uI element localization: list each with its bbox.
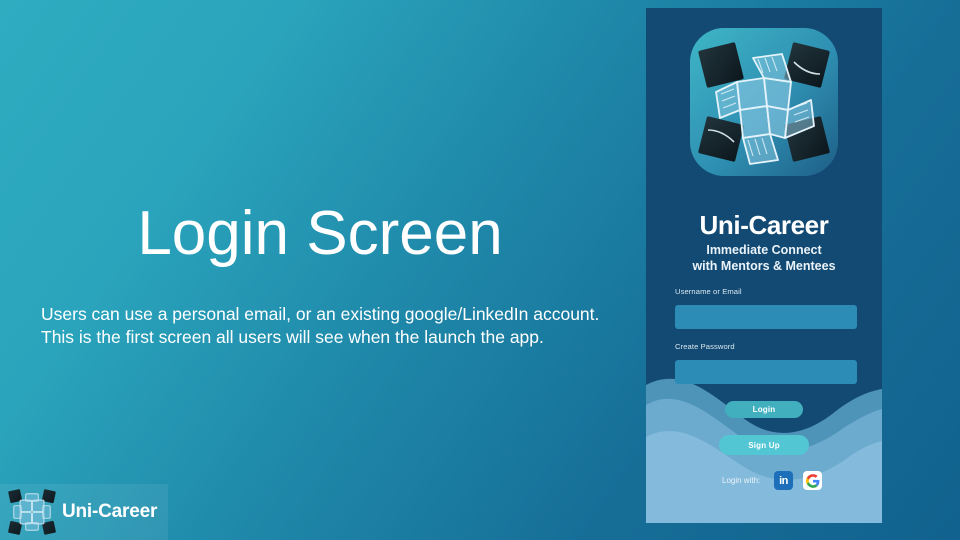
- footer-logo-wordmark: Uni-Career: [62, 501, 157, 523]
- slide-description: Users can use a personal email, or an ex…: [41, 303, 621, 349]
- phone-screen-content: Uni-Career Immediate Connect with Mentor…: [646, 8, 882, 523]
- uni-career-handshake-icon: [690, 28, 838, 176]
- username-field-label: Username or Email: [675, 287, 742, 296]
- app-tagline-line1: Immediate Connect: [646, 242, 882, 258]
- linkedin-icon[interactable]: in: [774, 471, 793, 490]
- password-input[interactable]: [675, 360, 857, 384]
- app-brand-name: Uni-Career: [646, 210, 882, 241]
- footer-logo-lockup: Uni-Career: [0, 484, 168, 540]
- interlocking-hands-icon: [6, 486, 58, 538]
- google-icon[interactable]: [803, 471, 822, 490]
- signup-button[interactable]: Sign Up: [719, 435, 809, 455]
- phone-mockup: Uni-Career Immediate Connect with Mentor…: [646, 8, 882, 523]
- app-tagline: Immediate Connect with Mentors & Mentees: [646, 242, 882, 274]
- page-title: Login Screen: [40, 200, 600, 268]
- slide-canvas: Login Screen Users can use a personal em…: [0, 0, 960, 540]
- password-field-label: Create Password: [675, 342, 735, 351]
- username-input[interactable]: [675, 305, 857, 329]
- slide-left-column: Login Screen Users can use a personal em…: [0, 0, 640, 540]
- login-with-label: Login with:: [722, 476, 760, 485]
- login-button[interactable]: Login: [725, 401, 803, 418]
- google-g-glyph: [806, 474, 820, 488]
- app-tagline-line2: with Mentors & Mentees: [646, 258, 882, 274]
